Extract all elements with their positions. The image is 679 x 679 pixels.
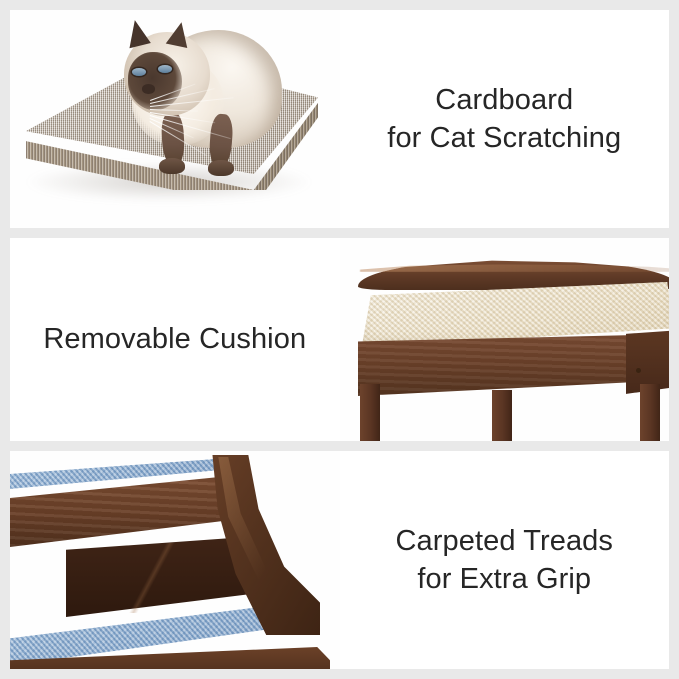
- bench-front-apron: [358, 334, 670, 396]
- cat-paw-left: [159, 158, 185, 174]
- stair-cavity-brace: [68, 543, 244, 613]
- cat-eye-left: [132, 68, 146, 76]
- cat-nose: [142, 84, 155, 94]
- cat-ear-left: [123, 18, 151, 49]
- feature-caption-cushion: Removable Cushion: [10, 320, 340, 358]
- bench-screw: [636, 368, 641, 373]
- feature-caption-cardboard: Cardboard for Cat Scratching: [340, 81, 670, 158]
- bench-leg-left: [360, 384, 380, 441]
- product-photo-cardboard-scratcher: [10, 10, 340, 228]
- photo-stage: [10, 10, 340, 228]
- infographic-page: Cardboard for Cat Scratching Removable C…: [0, 0, 679, 679]
- feature-panel-treads: Carpeted Treads for Extra Grip: [10, 451, 669, 669]
- bench-rail-highlight: [360, 264, 670, 272]
- photo-stage: [340, 238, 670, 441]
- bench-leg-center: [492, 390, 512, 441]
- feature-panel-cardboard: Cardboard for Cat Scratching: [10, 10, 669, 228]
- photo-stage: [10, 451, 340, 669]
- cat-whiskers: [150, 94, 260, 150]
- product-photo-bench-cushion: [340, 238, 670, 441]
- stair-riser: [10, 477, 228, 547]
- cat-eye-right: [158, 65, 172, 73]
- feature-caption-treads: Carpeted Treads for Extra Grip: [340, 522, 670, 599]
- cat-paw-right: [208, 160, 234, 176]
- feature-panel-cushion: Removable Cushion: [10, 238, 669, 441]
- bench-leg-right: [640, 384, 660, 441]
- product-photo-carpeted-stairs: [10, 451, 340, 669]
- cat-illustration: [106, 18, 290, 186]
